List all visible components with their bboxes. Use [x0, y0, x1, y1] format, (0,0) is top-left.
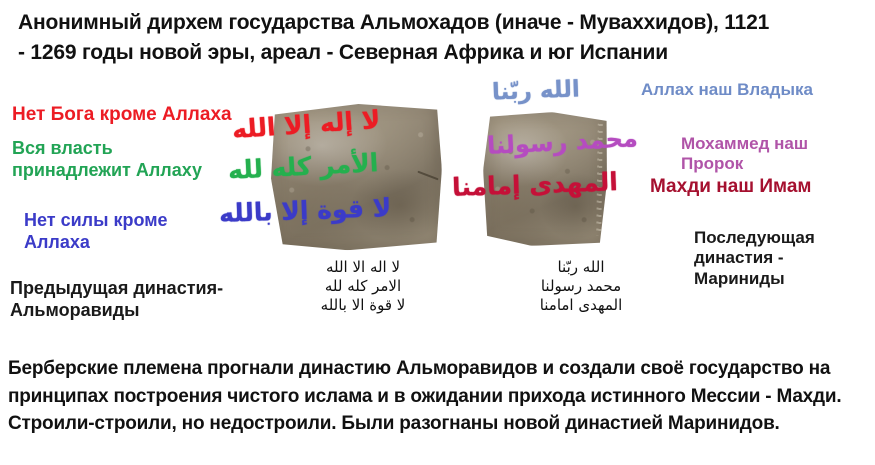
- annotation-mahdi-our-imam: Махди наш Имам: [650, 176, 811, 199]
- annotation-following-dynasty: Последующая династия - Мариниды: [694, 228, 815, 289]
- page-title-line-2: - 1269 годы новой эры, ареал - Северная …: [18, 38, 863, 68]
- page-title-line-1: Анонимный дирхем государства Альмохадов …: [18, 8, 863, 38]
- body-paragraph: Берберские племена прогнали династию Аль…: [8, 355, 868, 438]
- overlay-la-quwwata-illa-billah: لا قوة إلا بالله: [219, 193, 392, 228]
- overlay-al-mahdi-imamuna: المهدى إمامنا: [452, 167, 619, 202]
- annotation-allah-our-lord: Аллах наш Владыка: [641, 80, 813, 100]
- transcription-obverse: لا اله الا الله الامر كله لله لا قوة الا…: [268, 258, 458, 316]
- annotation-muhammad-our-prophet: Мохаммед наш Пророк: [681, 134, 875, 175]
- overlay-allah-rabbuna: الله ربّنا: [492, 76, 581, 105]
- coin-crack: [417, 171, 438, 181]
- page-title: Анонимный дирхем государства Альмохадов …: [18, 8, 863, 68]
- annotation-all-power-belongs-to-allah: Вся власть принадлежит Аллаху: [12, 138, 202, 181]
- annotation-no-god-but-allah: Нет Бога кроме Аллаха: [12, 104, 232, 127]
- slide-canvas: Анонимный дирхем государства Альмохадов …: [0, 0, 875, 465]
- annotation-no-power-except-allah: Нет силы кроме Аллаха: [24, 210, 168, 253]
- transcription-reverse: الله ربّنا محمد رسولنا المهدى امامنا: [486, 258, 676, 316]
- annotation-previous-dynasty: Предыдущая династия- Альморавиды: [10, 278, 223, 321]
